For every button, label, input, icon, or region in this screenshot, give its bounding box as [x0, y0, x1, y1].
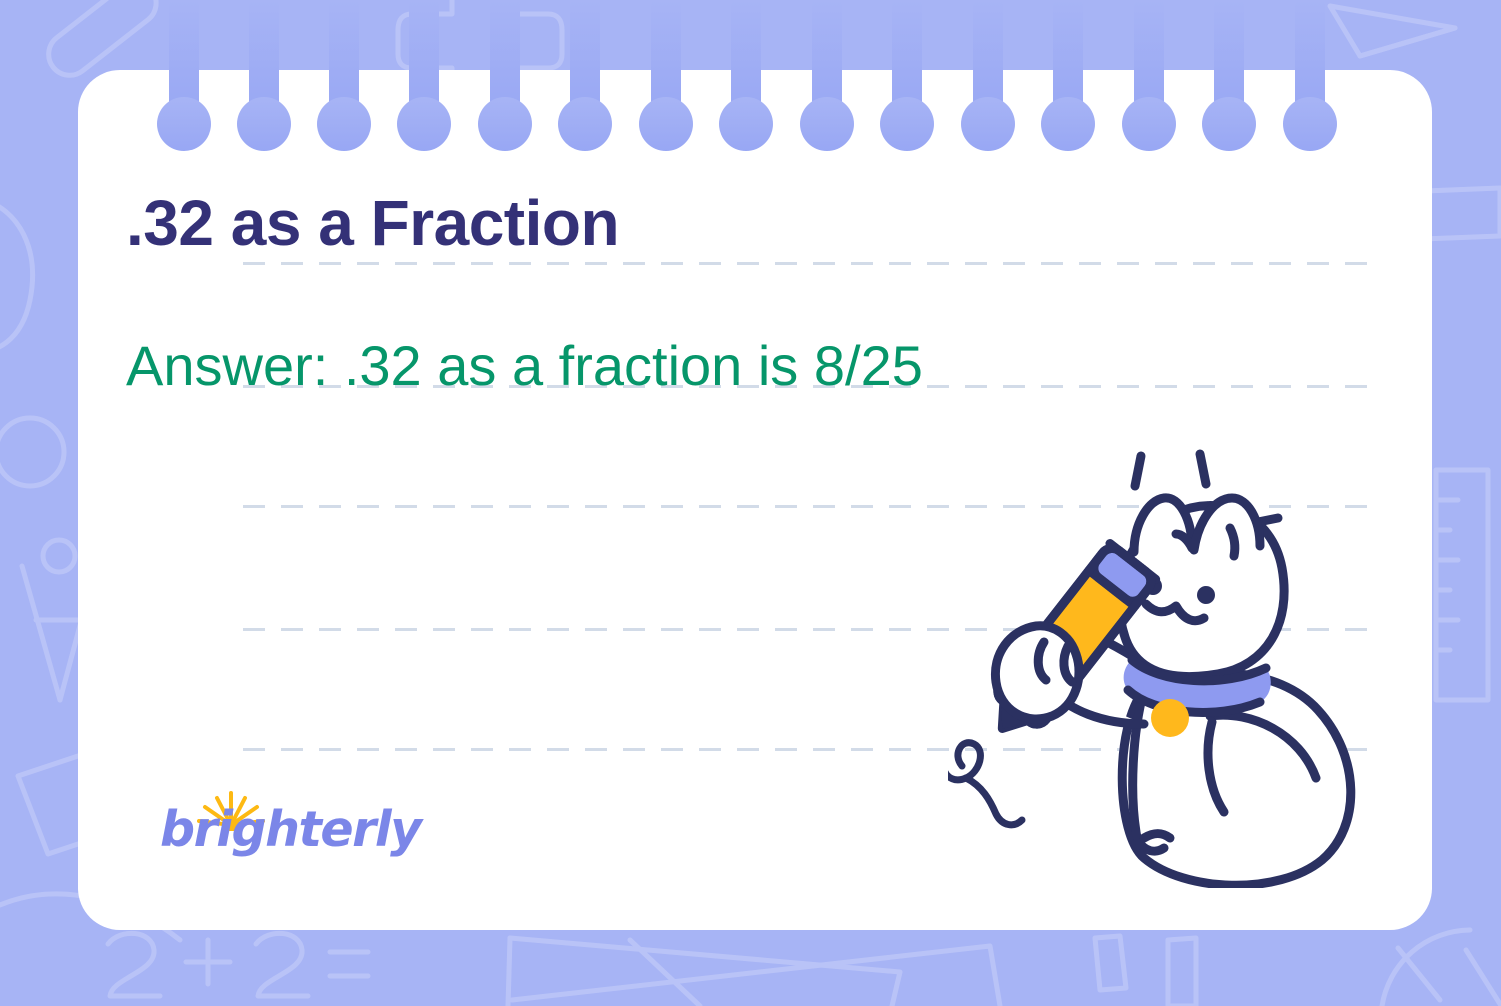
rule-line — [243, 262, 1368, 265]
page-title: .32 as a Fraction — [126, 190, 619, 257]
bunny-mascot — [948, 428, 1378, 888]
answer-text: Answer: .32 as a fraction is 8/25 — [126, 337, 923, 396]
brand-wordmark: brighterly — [160, 805, 421, 854]
slide-canvas: .32 as a Fraction Answer: .32 as a fract… — [0, 0, 1501, 1006]
brand-logo[interactable]: brighterly — [160, 783, 370, 869]
